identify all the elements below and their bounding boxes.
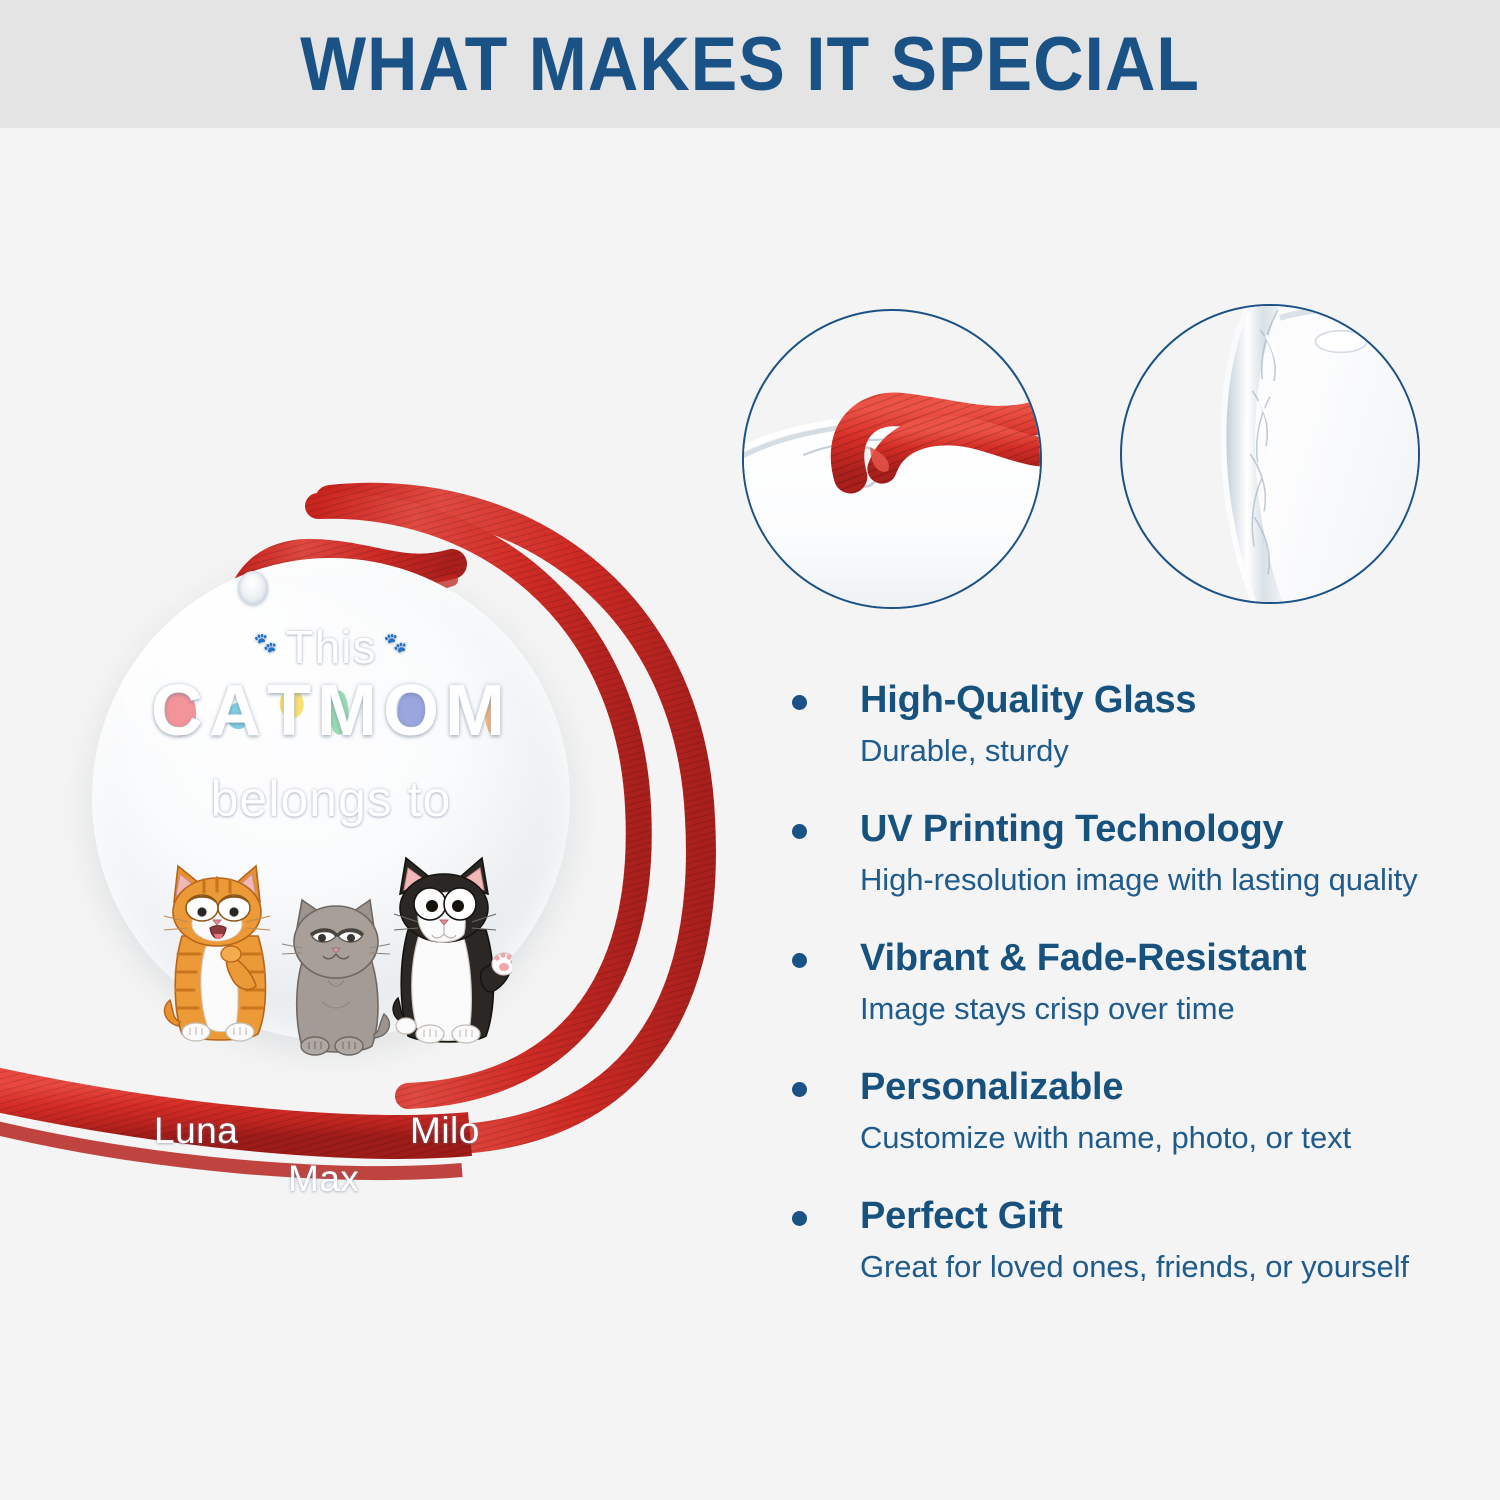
ribbon-hole-closeup-art [744, 311, 1040, 607]
bullet-icon [792, 953, 807, 968]
feature-item-high-quality-glass: High-Quality Glass Durable, sturdy [780, 678, 1480, 769]
product-photo: 🐾This🐾 CAT MOM belongs to [0, 128, 745, 1500]
bullet-icon [792, 1211, 807, 1226]
feature-item-uv-printing-technology: UV Printing Technology High-resolution i… [780, 807, 1480, 898]
bullet-icon [792, 695, 807, 710]
bullet-icon [792, 1082, 807, 1097]
feature-title: Perfect Gift [860, 1194, 1480, 1239]
detail-circle-ribbon-hole [742, 309, 1042, 609]
feature-title: High-Quality Glass [860, 678, 1480, 723]
right-column: High-Quality Glass Durable, sturdy UV Pr… [745, 128, 1500, 1500]
ornament-hanging-hole [238, 571, 268, 605]
feature-title: Vibrant & Fade-Resistant [860, 936, 1480, 981]
glass-ornament [92, 558, 570, 1040]
feature-description: Customize with name, photo, or text [860, 1119, 1480, 1156]
feature-list: High-Quality Glass Durable, sturdy UV Pr… [780, 678, 1480, 1285]
beveled-edge-closeup-art [1122, 306, 1418, 602]
feature-title: Personalizable [860, 1065, 1480, 1110]
bullet-icon [792, 824, 807, 839]
feature-description: Image stays crisp over time [860, 990, 1480, 1027]
feature-description: High-resolution image with lasting quali… [860, 861, 1480, 898]
detail-circle-beveled-edge [1120, 304, 1420, 604]
feature-title: UV Printing Technology [860, 807, 1480, 852]
feature-item-perfect-gift: Perfect Gift Great for loved ones, frien… [780, 1194, 1480, 1285]
content-stage: 🐾This🐾 CAT MOM belongs to [0, 128, 1500, 1500]
page-title: WHAT MAKES IT SPECIAL [300, 21, 1200, 108]
feature-description: Great for loved ones, friends, or yourse… [860, 1248, 1480, 1285]
page-header: WHAT MAKES IT SPECIAL [0, 0, 1500, 128]
feature-item-vibrant-fade-resistant: Vibrant & Fade-Resistant Image stays cri… [780, 936, 1480, 1027]
feature-description: Durable, sturdy [860, 732, 1480, 769]
feature-item-personalizable: Personalizable Customize with name, phot… [780, 1065, 1480, 1156]
